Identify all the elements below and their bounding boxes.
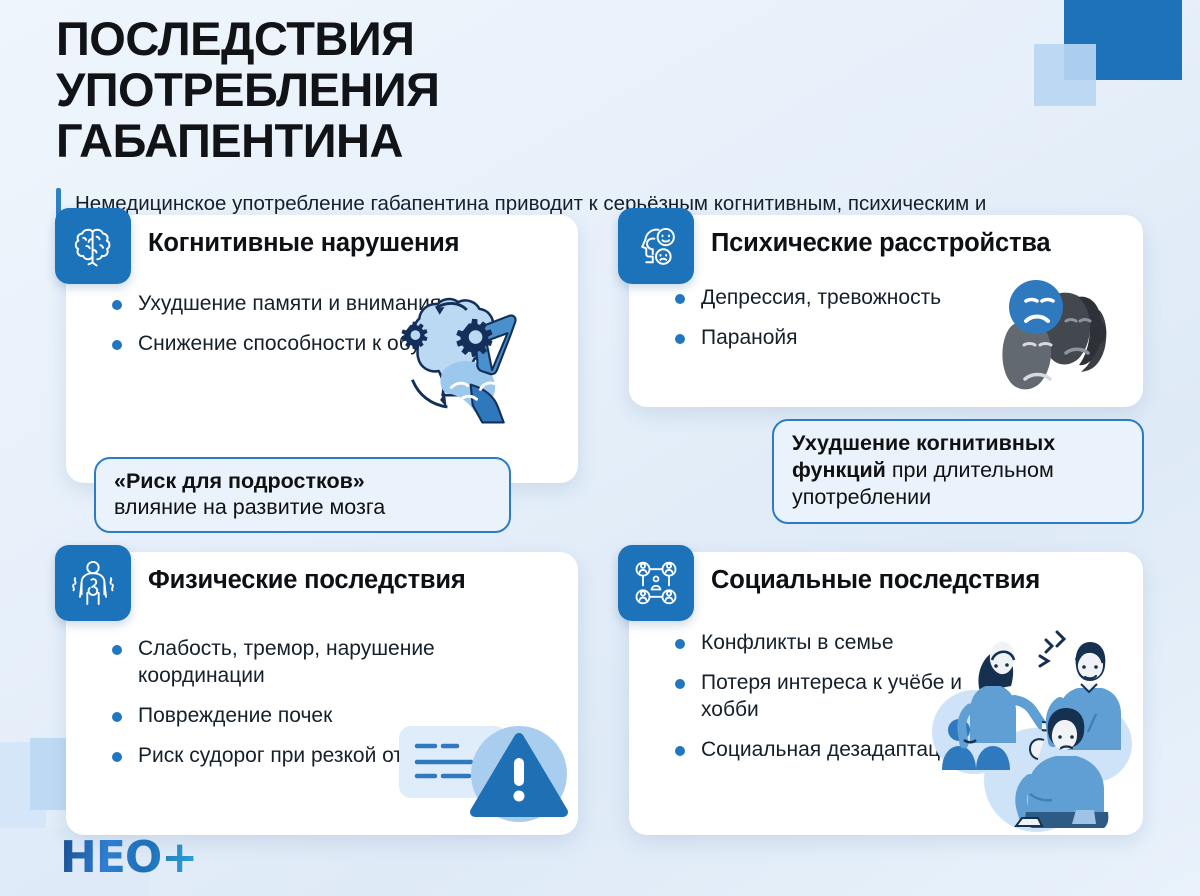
list-item: Депрессия, тревожность xyxy=(673,285,1073,312)
decorative-square-bottom-left-two xyxy=(30,738,68,810)
card-physical: Физические последствия Слабость, тремор,… xyxy=(66,552,578,835)
card-title: Психические расстройства xyxy=(711,229,1050,258)
card-title: Социальные последствия xyxy=(711,566,1040,595)
brand-logo: НЕО+ xyxy=(60,836,197,880)
card-bullet-list: Слабость, тремор, нарушение координации … xyxy=(110,636,470,783)
people-network-icon xyxy=(618,545,694,621)
callout-rest-text: влияние на развитие мозга xyxy=(114,495,385,519)
human-body-organs-icon xyxy=(55,545,131,621)
brain-icon xyxy=(55,208,131,284)
list-item: Ухудшение памяти и внимания xyxy=(110,291,510,318)
callout-long-term-cognitive: Ухудшение когнитивных функций при длител… xyxy=(772,419,1144,524)
page-title: ПОСЛЕДСТВИЯ УПОТРЕБЛЕНИЯ ГАБАПЕНТИНА xyxy=(56,14,756,166)
card-social: Социальные последствия Конфликты в семье… xyxy=(629,552,1143,835)
list-item: Снижение способности к обучению xyxy=(110,331,510,358)
card-bullet-list: Ухудшение памяти и внимания Снижение спо… xyxy=(110,291,510,371)
header: ПОСЛЕДСТВИЯ УПОТРЕБЛЕНИЯ ГАБАПЕНТИНА Нем… xyxy=(56,14,1056,247)
card-mental: Психические расстройства Депрессия, трев… xyxy=(629,215,1143,407)
card-bullet-list: Конфликты в семье Потеря интереса к учёб… xyxy=(673,630,993,777)
card-bullet-list: Депрессия, тревожность Паранойя xyxy=(673,285,1073,365)
list-item: Социальная дезадаптация xyxy=(673,737,993,764)
head-emotions-icon xyxy=(618,208,694,284)
callout-bold-text: «Риск для подростков» xyxy=(114,469,365,493)
list-item: Потеря интереса к учёбе и хобби xyxy=(673,670,993,724)
callout-teen-risk: «Риск для подростков» влияние на развити… xyxy=(94,457,511,533)
list-item: Повреждение почек xyxy=(110,703,470,730)
list-item: Риск судорог при резкой отмене xyxy=(110,743,470,770)
card-cognitive: Когнитивные нарушения Ухудшение памяти и… xyxy=(66,215,578,483)
list-item: Слабость, тремор, нарушение координации xyxy=(110,636,470,690)
list-item: Паранойя xyxy=(673,325,1073,352)
card-title: Физические последствия xyxy=(148,566,466,595)
card-title: Когнитивные нарушения xyxy=(148,229,459,258)
list-item: Конфликты в семье xyxy=(673,630,993,657)
